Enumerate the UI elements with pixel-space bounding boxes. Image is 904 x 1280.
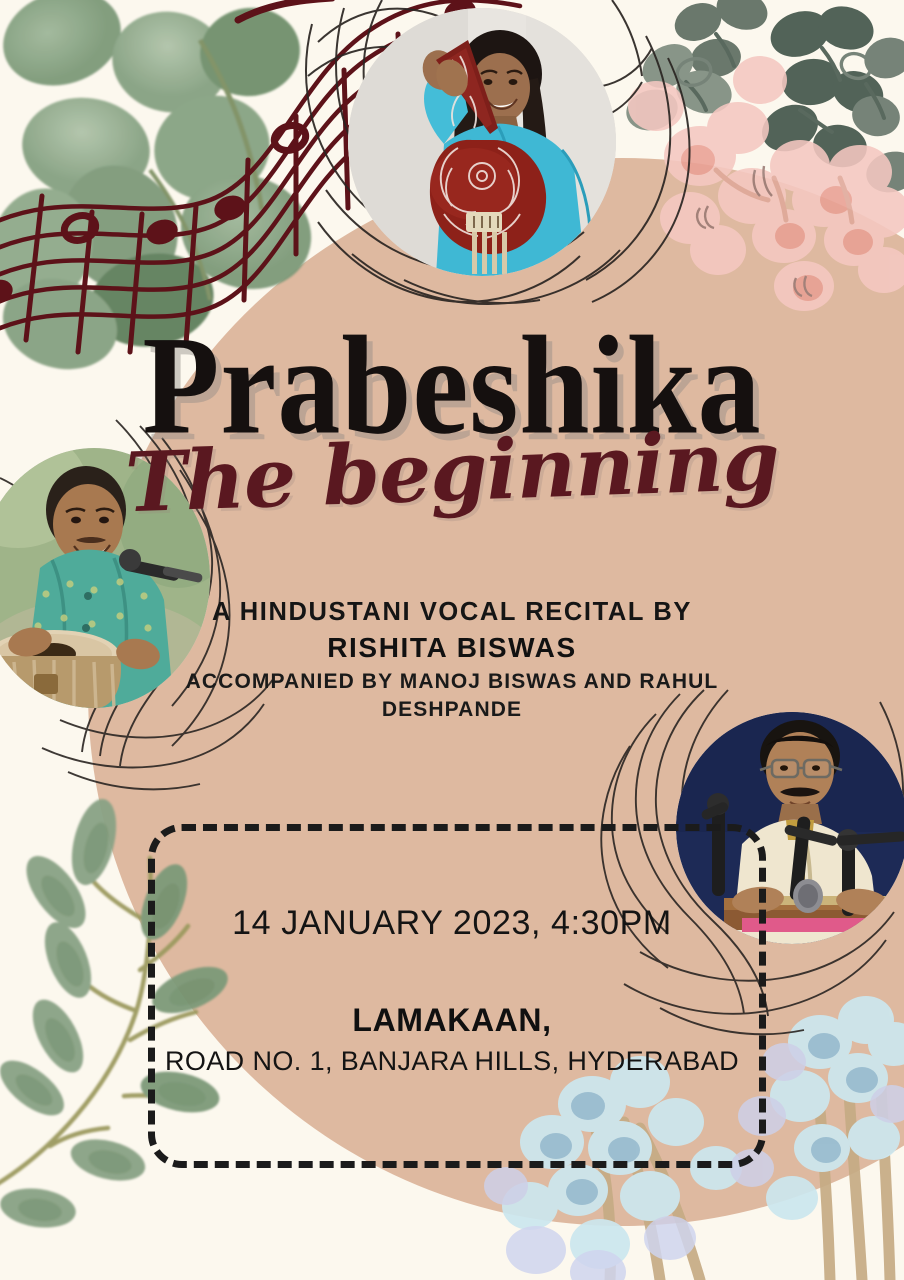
recital-line-1: A HINDUSTANI VOCAL RECITAL BY xyxy=(0,596,904,629)
performer-name: RISHITA BISWAS xyxy=(0,629,904,667)
event-poster: Prabeshika The beginning A HINDUSTANI VO… xyxy=(0,0,904,1280)
venue-block: LAMAKAAN, ROAD NO. 1, BANJARA HILLS, HYD… xyxy=(0,1000,904,1079)
venue-address: ROAD NO. 1, BANJARA HILLS, HYDERABAD xyxy=(0,1044,904,1079)
event-date-time: 14 JANUARY 2023, 4:30PM xyxy=(0,904,904,943)
dashed-info-frame xyxy=(148,824,766,1168)
recital-description: A HINDUSTANI VOCAL RECITAL BY RISHITA BI… xyxy=(0,596,904,723)
accompanists: ACCOMPANIED BY MANOJ BISWAS AND RAHUL DE… xyxy=(122,668,782,723)
photo-rishita-biswas-with-tanpura xyxy=(348,8,616,276)
venue-name: LAMAKAAN, xyxy=(0,1000,904,1040)
